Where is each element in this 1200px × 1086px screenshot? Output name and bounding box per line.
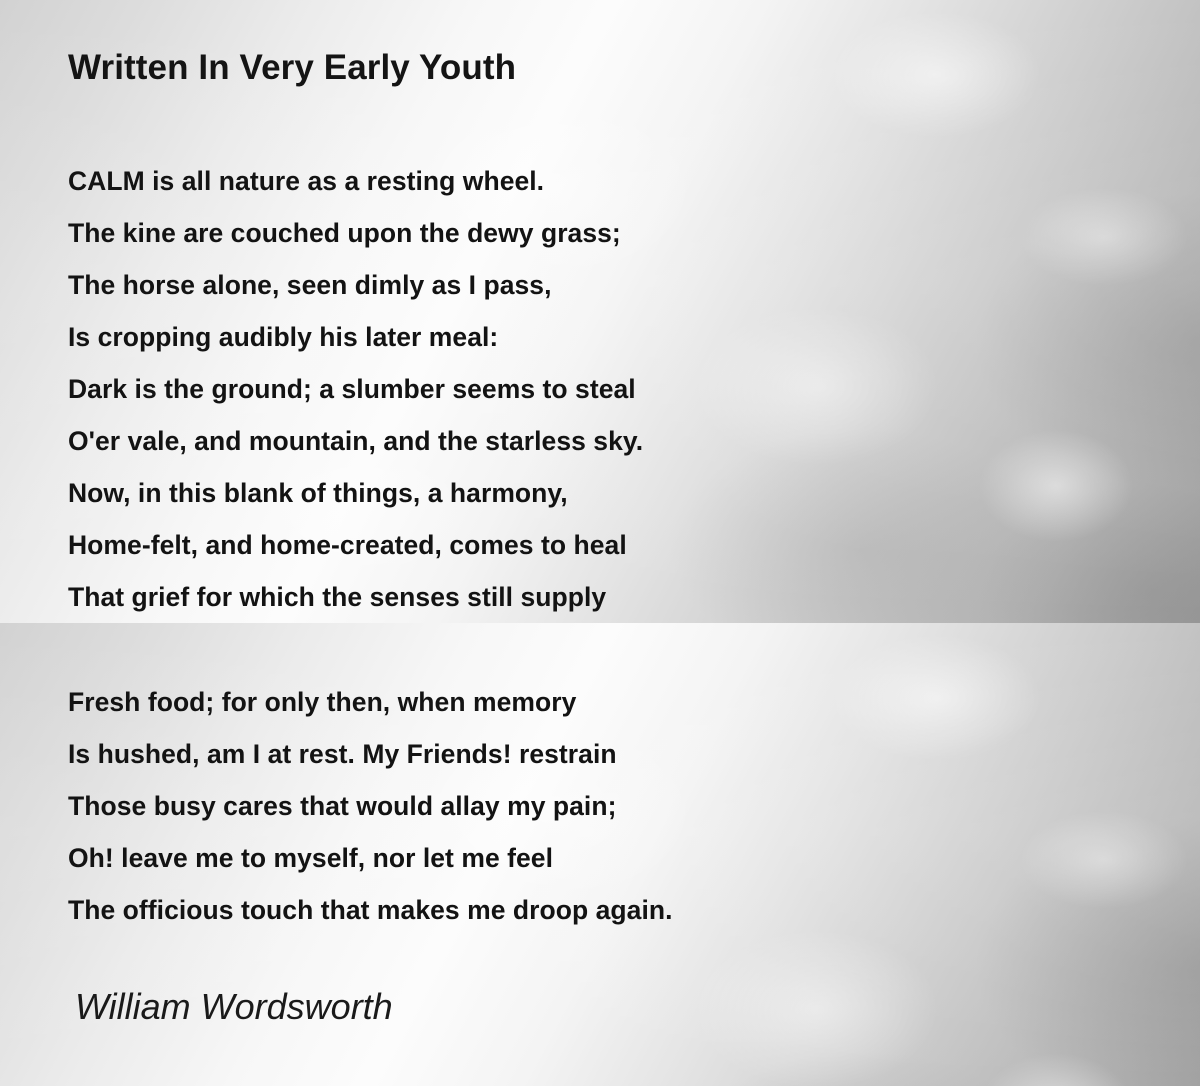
poem-stanza-2: Fresh food; for only then, when memory I… [68, 676, 673, 936]
poem-stanza-1: CALM is all nature as a resting wheel. T… [68, 155, 643, 623]
poem-content: Written In Very Early Youth CALM is all … [0, 0, 1200, 1086]
poem-line: Dark is the ground; a slumber seems to s… [68, 363, 643, 415]
poem-line: Home-felt, and home-created, comes to he… [68, 519, 643, 571]
poem-line: Those busy cares that would allay my pai… [68, 780, 673, 832]
poem-line: The officious touch that makes me droop … [68, 884, 673, 936]
poem-line: The horse alone, seen dimly as I pass, [68, 259, 643, 311]
poem-image-card: Written In Very Early Youth CALM is all … [0, 0, 1200, 1086]
poem-line: The kine are couched upon the dewy grass… [68, 207, 643, 259]
poem-line: Fresh food; for only then, when memory [68, 676, 673, 728]
poem-author: William Wordsworth [75, 986, 393, 1028]
poem-line: Is hushed, am I at rest. My Friends! res… [68, 728, 673, 780]
poem-title: Written In Very Early Youth [68, 48, 516, 88]
poem-line: O'er vale, and mountain, and the starles… [68, 415, 643, 467]
poem-line: Oh! leave me to myself, nor let me feel [68, 832, 673, 884]
poem-line: CALM is all nature as a resting wheel. [68, 155, 643, 207]
poem-line: Now, in this blank of things, a harmony, [68, 467, 643, 519]
poem-line: That grief for which the senses still su… [68, 571, 643, 623]
poem-line: Is cropping audibly his later meal: [68, 311, 643, 363]
